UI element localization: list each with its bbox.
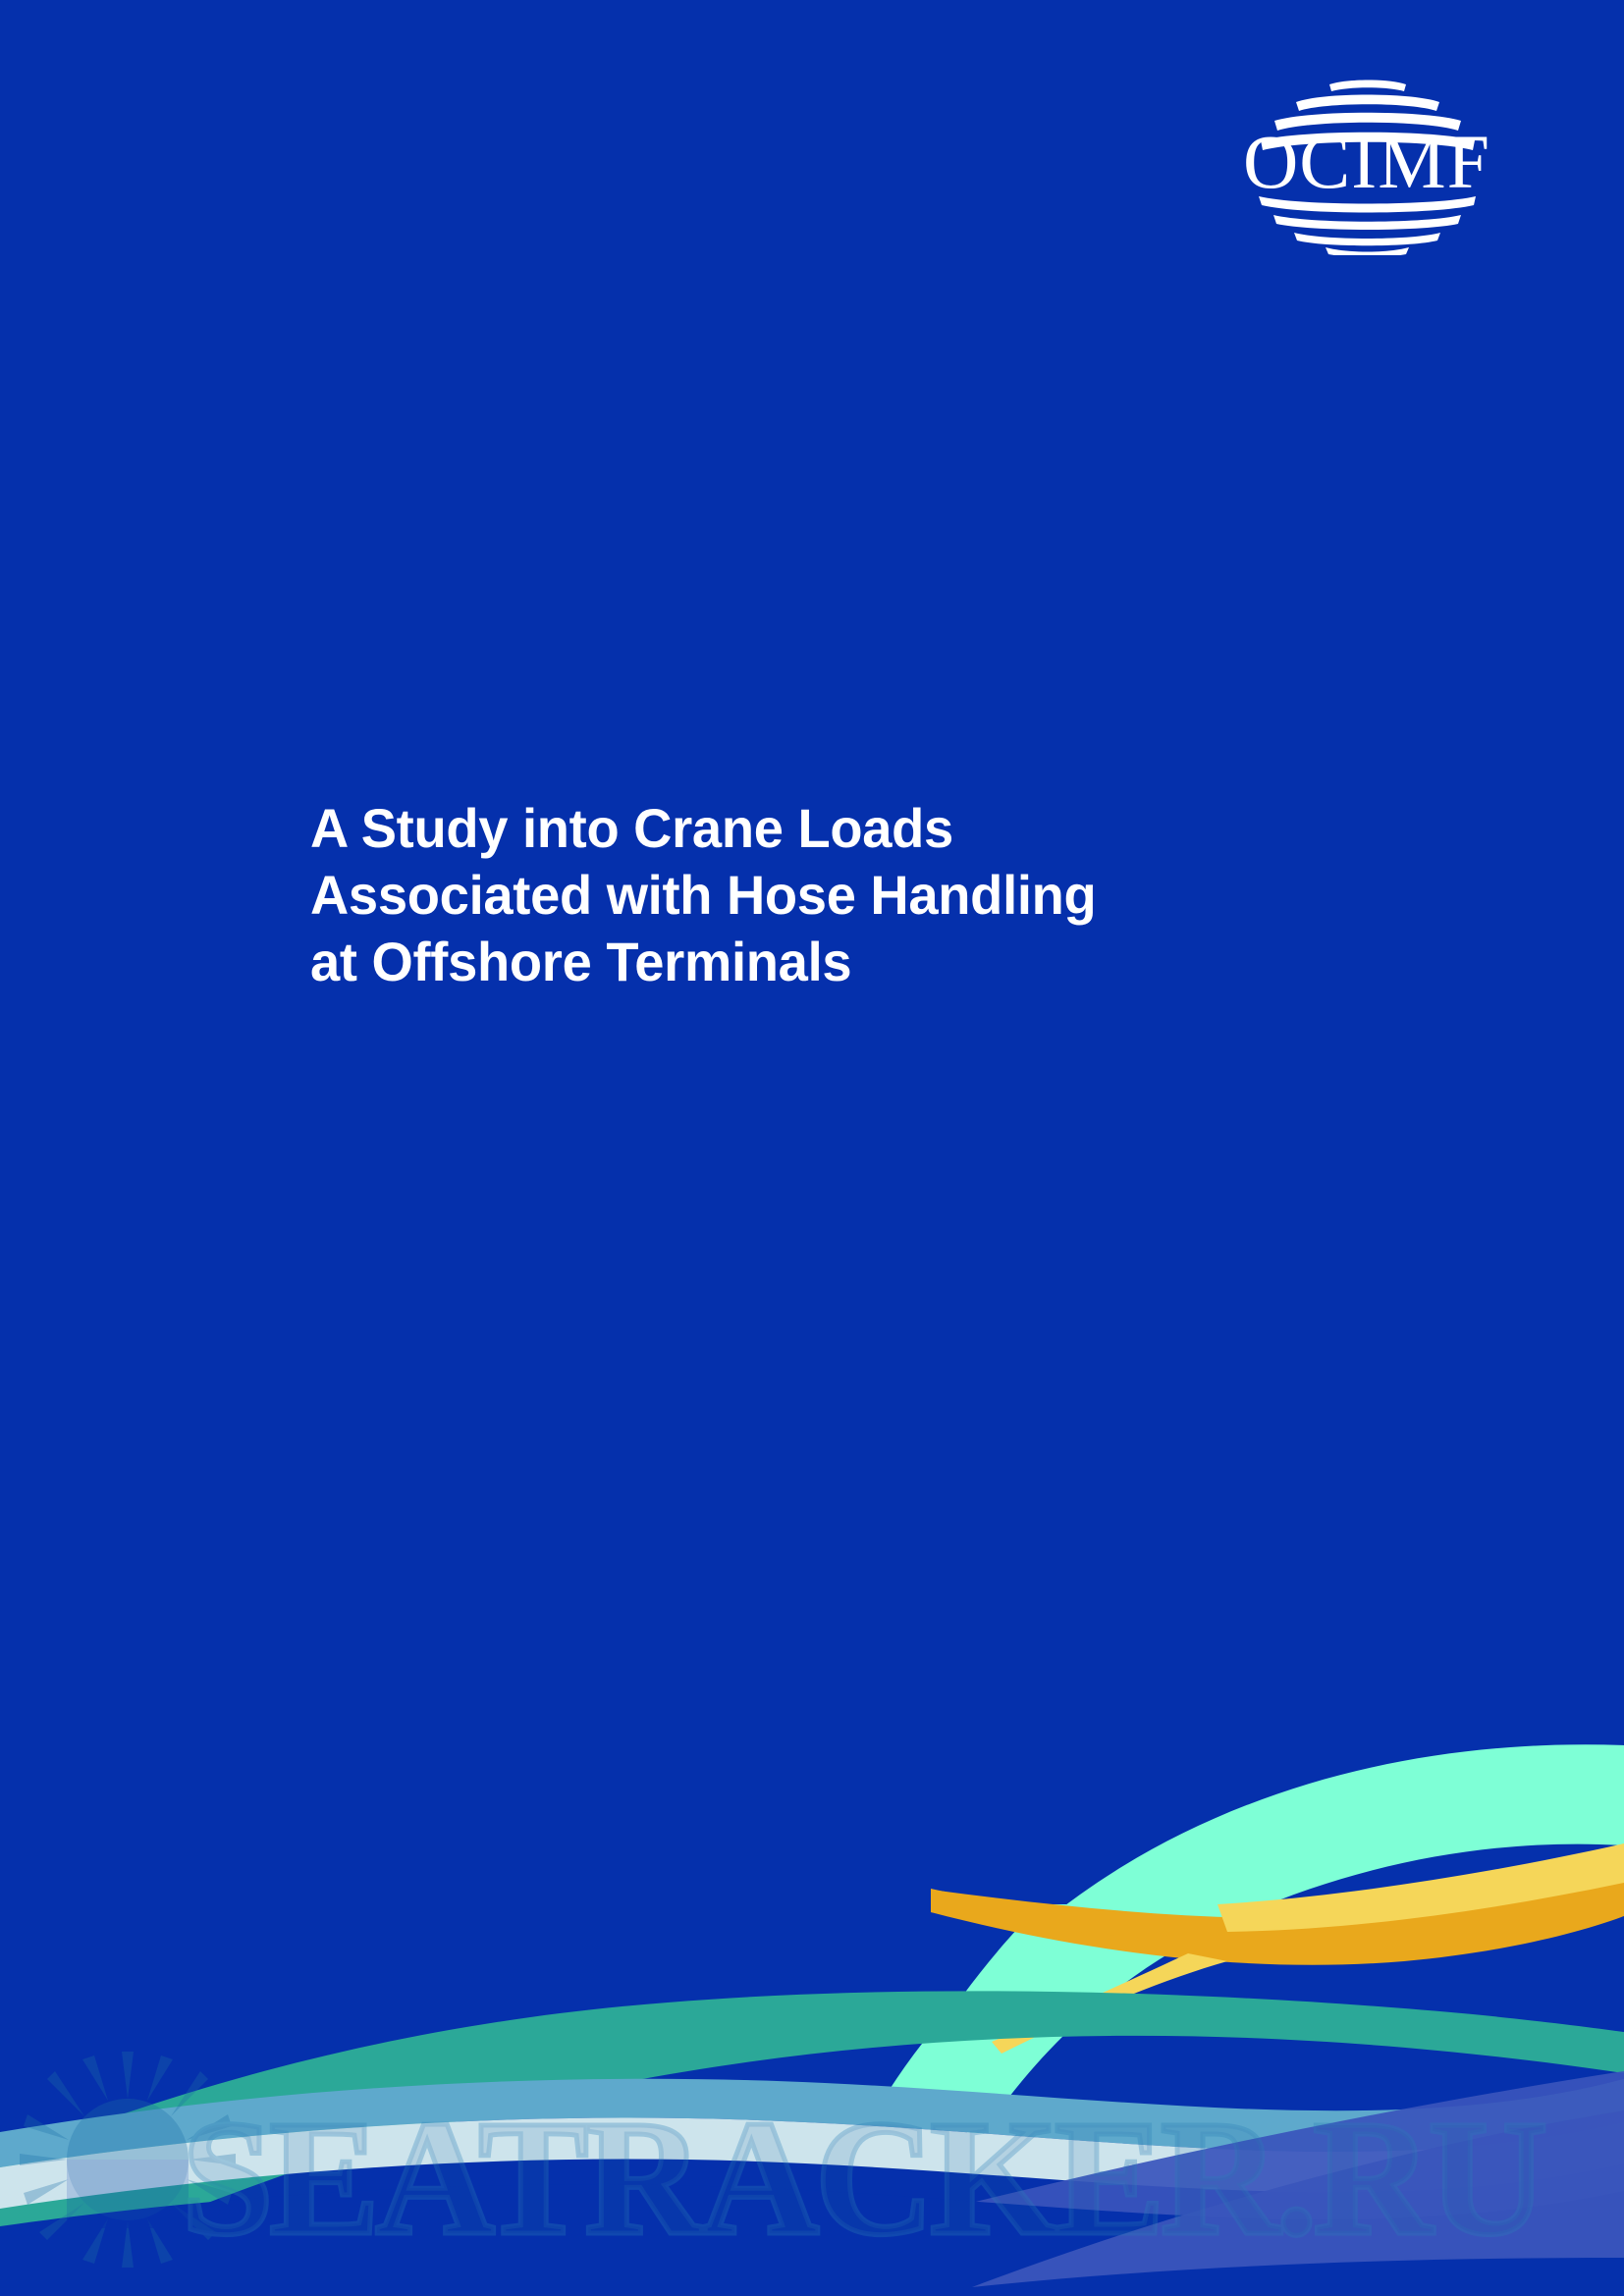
page-background <box>0 0 1624 2296</box>
title-line-3: at Offshore Terminals <box>310 929 1358 995</box>
globe-bands-bottom <box>1259 196 1476 255</box>
page-title: A Study into Crane Loads Associated with… <box>310 795 1390 995</box>
title-line-2: Associated with Hose Handling <box>310 862 1358 929</box>
ocimf-logo: OCIMF <box>1219 59 1514 255</box>
document-cover-page: SEATRACKER.RU SEATRACKER.RU OCIMF A Stud <box>0 0 1624 2296</box>
ocimf-wordmark: OCIMF <box>1243 119 1490 204</box>
title-line-1: A Study into Crane Loads <box>310 795 1358 862</box>
